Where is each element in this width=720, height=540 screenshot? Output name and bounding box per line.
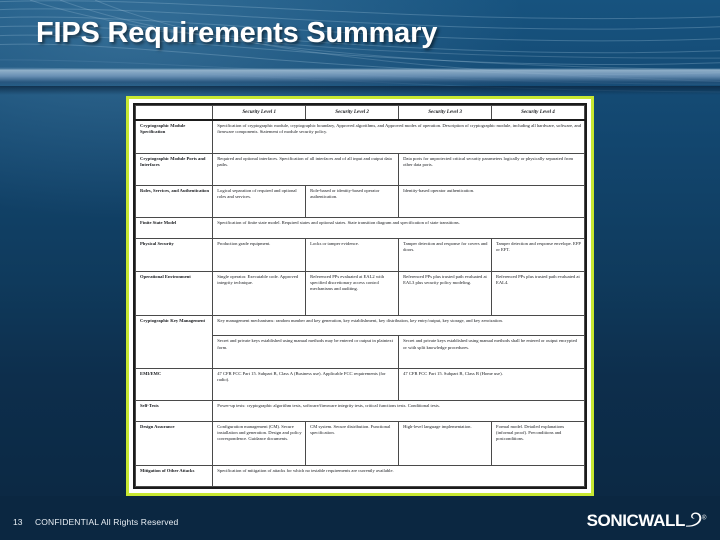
row-label: Operational Environment xyxy=(136,271,213,315)
table-row: Physical SecurityProduction grade equipm… xyxy=(136,239,585,271)
row-label: EMI/EMC xyxy=(136,368,213,400)
row-label: Physical Security xyxy=(136,239,213,271)
table-cell: Key management mechanisms: random number… xyxy=(213,315,585,336)
table-head: Security Level 1 Security Level 2 Securi… xyxy=(136,106,585,120)
sonicwall-swirl-icon xyxy=(685,512,702,532)
row-label: Cryptographic Key Management xyxy=(136,315,213,368)
table-row: Self-TestsPower-up tests: cryptographic … xyxy=(136,401,585,422)
column-header-level-2: Security Level 2 xyxy=(306,106,399,120)
sonicwall-logo-text: SONICWALL xyxy=(587,511,685,530)
table-cell: Identity-based operator authentication. xyxy=(399,186,585,218)
table-cell: Specification of cryptographic module, c… xyxy=(213,120,585,153)
page-number: 13 xyxy=(13,517,22,527)
table-cell: Logical separation of required and optio… xyxy=(213,186,306,218)
table-cell: Required and optional interfaces. Specif… xyxy=(213,153,399,185)
row-label: Finite State Model xyxy=(136,218,213,239)
column-header-level-1: Security Level 1 xyxy=(213,106,306,120)
confidential-notice: CONFIDENTIAL All Rights Reserved xyxy=(35,517,178,527)
row-label: Roles, Services, and Authentication xyxy=(136,186,213,218)
table-cell: Configuration management (CM). Secure in… xyxy=(213,422,306,466)
row-label: Cryptographic Module Specification xyxy=(136,120,213,153)
table-cell: Power-up tests: cryptographic algorithm … xyxy=(213,401,585,422)
table-cell: High-level language implementation. xyxy=(399,422,492,466)
table-cell: Tamper detection and response envelope. … xyxy=(492,239,585,271)
table-row: Cryptographic Module Ports and Interface… xyxy=(136,153,585,185)
fips-requirements-table: Security Level 1 Security Level 2 Securi… xyxy=(135,105,585,487)
table-cell: Role-based or identity-based operator au… xyxy=(306,186,399,218)
table-frame: Security Level 1 Security Level 2 Securi… xyxy=(126,96,594,496)
table-frame-inner: Security Level 1 Security Level 2 Securi… xyxy=(133,103,587,489)
page-title: FIPS Requirements Summary xyxy=(36,17,437,50)
row-label: Cryptographic Module Ports and Interface… xyxy=(136,153,213,185)
table-cell: Specification of finite state model. Req… xyxy=(213,218,585,239)
table-row: Cryptographic Module SpecificationSpecif… xyxy=(136,120,585,153)
table-cell: Referenced PPs plus trusted path evaluat… xyxy=(399,271,492,315)
table-cell: CM system. Secure distribution. Function… xyxy=(306,422,399,466)
table-cell: Secret and private keys established usin… xyxy=(399,336,585,368)
column-header-level-4: Security Level 4 xyxy=(492,106,585,120)
table-cell: Referenced PPs plus trusted path evaluat… xyxy=(492,271,585,315)
row-label: Mitigation of Other Attacks xyxy=(136,466,213,487)
header-gradient-band-lower xyxy=(0,86,720,95)
table-row: Roles, Services, and AuthenticationLogic… xyxy=(136,186,585,218)
table-cell: Secret and private keys established usin… xyxy=(213,336,399,368)
table-cell: 47 CFR FCC Part 15. Subpart B, Class B (… xyxy=(399,368,585,400)
table-body: Cryptographic Module SpecificationSpecif… xyxy=(136,120,585,487)
column-header-level-3: Security Level 3 xyxy=(399,106,492,120)
slide-footer: 13 CONFIDENTIAL All Rights Reserved SONI… xyxy=(0,496,720,540)
table-row: Finite State ModelSpecification of finit… xyxy=(136,218,585,239)
table-row: Mitigation of Other AttacksSpecification… xyxy=(136,466,585,487)
table-cell: Tamper detection and response for covers… xyxy=(399,239,492,271)
table-header-row: Security Level 1 Security Level 2 Securi… xyxy=(136,106,585,120)
table-row: Design AssuranceConfiguration management… xyxy=(136,422,585,466)
table-cell: Locks or tamper evidence. xyxy=(306,239,399,271)
row-label: Design Assurance xyxy=(136,422,213,466)
header-gradient-band xyxy=(0,68,720,86)
table-row: EMI/EMC47 CFR FCC Part 15. Subpart B, Cl… xyxy=(136,368,585,400)
slide-canvas: FIPS Requirements Summary Security Level… xyxy=(0,0,720,540)
table-cell: 47 CFR FCC Part 15. Subpart B, Class A (… xyxy=(213,368,399,400)
table-row: Cryptographic Key ManagementKey manageme… xyxy=(136,315,585,336)
table-cell: Formal model. Detailed explanations (inf… xyxy=(492,422,585,466)
table-cell: Single operator. Executable code. Approv… xyxy=(213,271,306,315)
table-cell: Data ports for unprotected critical secu… xyxy=(399,153,585,185)
row-label: Self-Tests xyxy=(136,401,213,422)
table-row: Operational EnvironmentSingle operator. … xyxy=(136,271,585,315)
table-cell: Production grade equipment. xyxy=(213,239,306,271)
table-corner-cell xyxy=(136,106,213,120)
table-cell: Specification of mitigation of attacks f… xyxy=(213,466,585,487)
registered-mark: ® xyxy=(702,515,706,521)
sonicwall-logo: SONICWALL® xyxy=(587,511,706,531)
table-cell: Referenced PPs evaluated at EAL2 with sp… xyxy=(306,271,399,315)
